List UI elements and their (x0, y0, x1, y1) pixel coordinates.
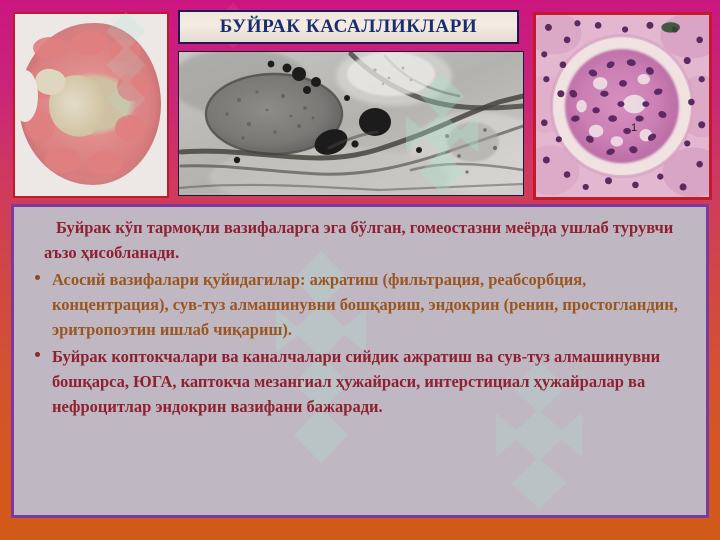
histology-graphic (536, 15, 709, 197)
kidney-specimen-shape (19, 23, 161, 185)
slide-title-box: БУЙРАК КАСАЛЛИКЛАРИ (178, 10, 519, 44)
paragraph-bullet-2: Буйрак коптокчалари ва каналчалари сийди… (22, 344, 698, 419)
slide-canvas: 1 БУЙРАК КАСАЛЛИКЛАРИ (0, 0, 720, 540)
content-text-body: Буйрак кўп тармоқли вазифаларга эга бўлг… (14, 207, 706, 515)
page-title: БУЙРАК КАСАЛЛИКЛАРИ (220, 16, 478, 38)
paragraph-bullet-1: Асосий вазифалари қуйидагилар: ажратиш (… (22, 267, 698, 342)
electron-micrograph-image (178, 51, 524, 196)
histology-glomerulus-image: 1 (533, 12, 712, 200)
bullet-icon (35, 275, 40, 280)
paragraph-text: Буйрак коптокчалари ва каналчалари сийди… (52, 347, 660, 416)
paragraph-text: Асосий вазифалари қуйидагилар: ажратиш (… (52, 270, 678, 339)
paragraph-intro: Буйрак кўп тармоқли вазифаларга эга бўлг… (22, 215, 698, 265)
content-panel: Буйрак кўп тармоқли вазифаларга эга бўлг… (11, 204, 709, 518)
em-graphic (179, 52, 523, 195)
gross-kidney-image (13, 12, 169, 198)
histology-label-1: 1 (631, 122, 637, 134)
paragraph-text: Буйрак кўп тармоқли вазифаларга эга бўлг… (44, 218, 673, 262)
bullet-icon (35, 352, 40, 357)
